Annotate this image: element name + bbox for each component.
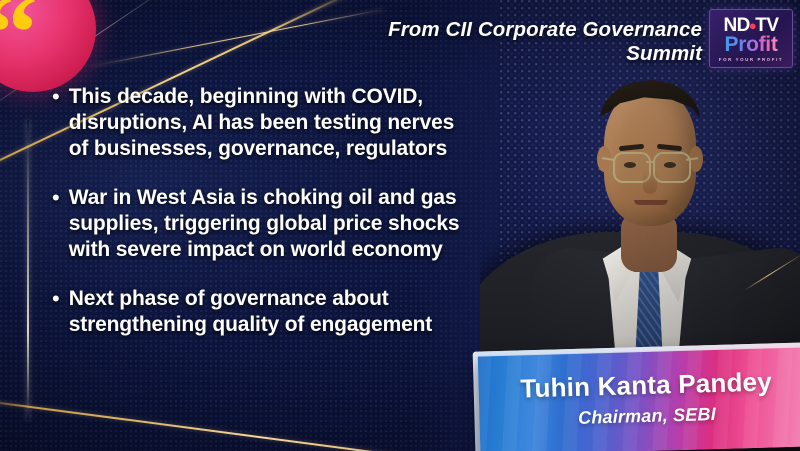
speaker-nameplate: Tuhin Kanta Pandey Chairman, SEBI: [473, 342, 800, 451]
ndtv-profit-logo[interactable]: ND●TV Profit FOR YOUR PROFIT: [709, 9, 793, 68]
nameplate-gradient-panel: Tuhin Kanta Pandey Chairman, SEBI: [478, 346, 800, 451]
gold-vertical-line: [27, 120, 29, 420]
list-item-text: War in West Asia is choking oil and gas …: [69, 185, 472, 263]
news-graphic-card: “ From CII Corporate Governance Summit N…: [0, 0, 800, 451]
page-title: From CII Corporate Governance Summit: [340, 18, 702, 66]
list-item-text: Next phase of governance about strengthe…: [69, 286, 472, 338]
list-item: • War in West Asia is choking oil and ga…: [52, 185, 472, 263]
logo-tagline: FOR YOUR PROFIT: [719, 57, 783, 62]
quotation-mark-icon: “: [0, 0, 36, 88]
bullet-marker-icon: •: [52, 286, 60, 312]
list-item: • This decade, beginning with COVID, dis…: [52, 84, 472, 162]
quote-bullet-list: • This decade, beginning with COVID, dis…: [52, 84, 472, 338]
bullet-marker-icon: •: [52, 185, 60, 211]
list-item: • Next phase of governance about strengt…: [52, 286, 472, 338]
bullet-marker-icon: •: [52, 84, 60, 110]
logo-brand-profit: Profit: [724, 34, 777, 55]
list-item-text: This decade, beginning with COVID, disru…: [69, 84, 472, 162]
